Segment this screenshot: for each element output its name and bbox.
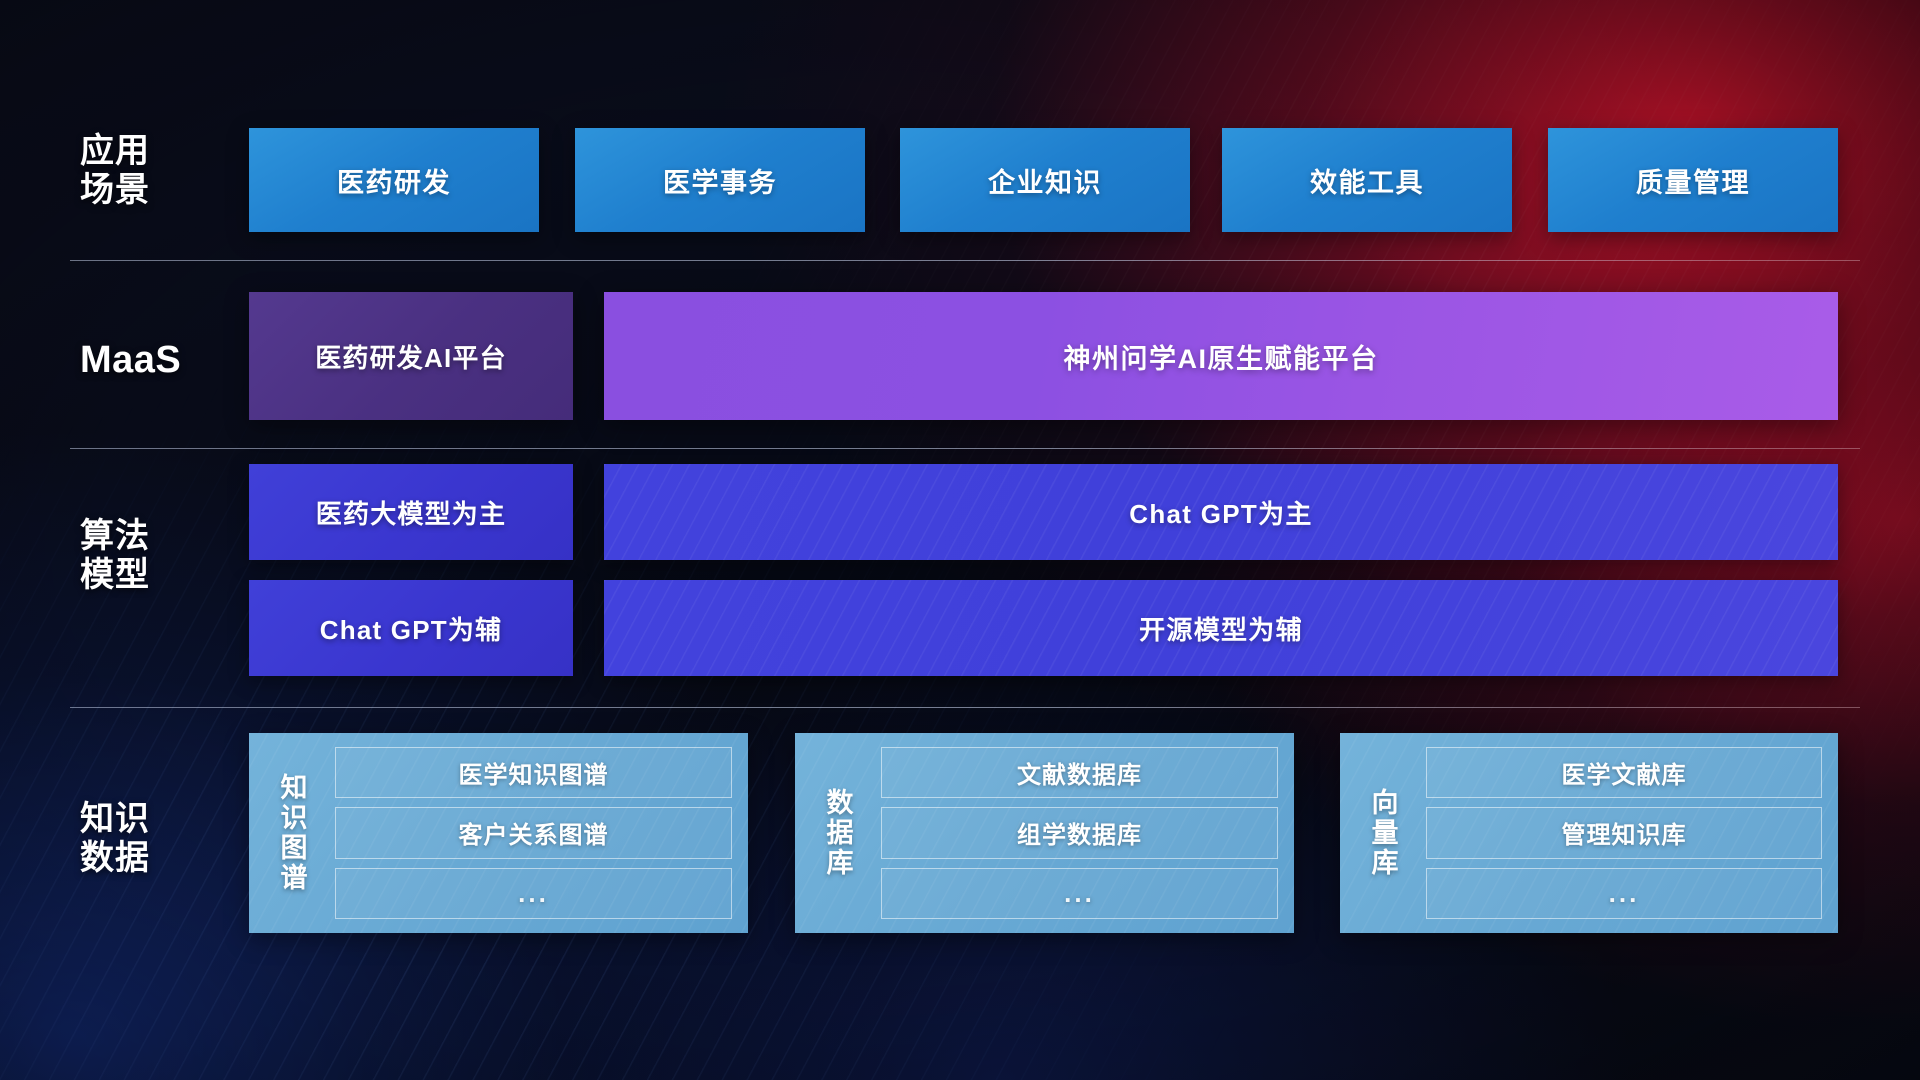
knowledge-group-items: 文献数据库 组学数据库 ... — [871, 747, 1278, 919]
label-char: 库 — [1372, 848, 1399, 878]
knowledge-item-medical-literature-library[interactable]: 医学文献库 — [1426, 747, 1822, 798]
maas-platform-label: 医药研发AI平台 — [315, 338, 507, 375]
knowledge-group-label-database: 数 据 库 — [809, 747, 871, 919]
label-char: 识 — [281, 803, 308, 833]
maas-platform-label: 神州问学AI原生赋能平台 — [1064, 337, 1379, 376]
divider-3 — [70, 707, 1860, 708]
knowledge-item-label: ... — [1609, 878, 1640, 909]
knowledge-item-medical-knowledge-graph[interactable]: 医学知识图谱 — [335, 747, 732, 798]
knowledge-item-label: 管理知识库 — [1562, 815, 1687, 850]
app-box-medical-affairs[interactable]: 医学事务 — [575, 128, 865, 232]
divider-1 — [70, 260, 1860, 261]
knowledge-group-label-knowledge-graph: 知 识 图 谱 — [263, 747, 325, 919]
algorithm-box-label: Chat GPT为辅 — [320, 610, 502, 647]
label-char: 图 — [281, 833, 308, 863]
knowledge-item-omics-database[interactable]: 组学数据库 — [881, 807, 1278, 858]
app-box-label: 医学事务 — [663, 161, 777, 200]
app-box-enterprise-knowledge[interactable]: 企业知识 — [900, 128, 1190, 232]
application-scenarios-row: 医药研发 医学事务 企业知识 效能工具 质量管理 — [0, 128, 1920, 232]
knowledge-group-database[interactable]: 数 据 库 文献数据库 组学数据库 ... — [795, 733, 1294, 933]
knowledge-item-literature-database[interactable]: 文献数据库 — [881, 747, 1278, 798]
maas-platform-shenzhou[interactable]: 神州问学AI原生赋能平台 — [604, 292, 1838, 420]
knowledge-group-vector-database[interactable]: 向 量 库 医学文献库 管理知识库 ... — [1340, 733, 1838, 933]
divider-2 — [70, 448, 1860, 449]
algorithm-row-primary: 医药大模型为主 Chat GPT为主 — [0, 464, 1920, 560]
knowledge-group-label-vector-database: 向 量 库 — [1354, 747, 1416, 919]
app-box-drug-rd[interactable]: 医药研发 — [249, 128, 539, 232]
knowledge-item-management-knowledge-library[interactable]: 管理知识库 — [1426, 807, 1822, 858]
app-box-label: 医药研发 — [337, 161, 451, 200]
knowledge-item-label: 客户关系图谱 — [459, 815, 609, 850]
label-char: 据 — [827, 818, 854, 848]
architecture-diagram: 应用 场景 医药研发 医学事务 企业知识 效能工具 质量管理 MaaS 医药研发… — [0, 0, 1920, 1080]
knowledge-item-label: 医学文献库 — [1562, 755, 1687, 790]
knowledge-group-items: 医学知识图谱 客户关系图谱 ... — [325, 747, 732, 919]
knowledge-data-row: 知 识 图 谱 医学知识图谱 客户关系图谱 ... 数 据 库 文献数据库 组学… — [0, 733, 1920, 933]
app-box-label: 企业知识 — [988, 161, 1102, 200]
maas-row: 医药研发AI平台 神州问学AI原生赋能平台 — [0, 292, 1920, 420]
knowledge-item-more[interactable]: ... — [335, 868, 732, 919]
knowledge-item-label: 医学知识图谱 — [459, 755, 609, 790]
algorithm-box-label: Chat GPT为主 — [1129, 494, 1312, 531]
label-char: 向 — [1372, 788, 1399, 818]
app-box-efficiency-tools[interactable]: 效能工具 — [1222, 128, 1512, 232]
algorithm-box-label: 开源模型为辅 — [1139, 610, 1303, 647]
algorithm-box-opensource-secondary[interactable]: 开源模型为辅 — [604, 580, 1838, 676]
maas-platform-drug-rd[interactable]: 医药研发AI平台 — [249, 292, 573, 420]
app-box-quality-management[interactable]: 质量管理 — [1548, 128, 1838, 232]
knowledge-item-customer-relation-graph[interactable]: 客户关系图谱 — [335, 807, 732, 858]
algorithm-row-secondary: Chat GPT为辅 开源模型为辅 — [0, 580, 1920, 676]
knowledge-group-knowledge-graph[interactable]: 知 识 图 谱 医学知识图谱 客户关系图谱 ... — [249, 733, 748, 933]
algorithm-box-chatgpt-secondary[interactable]: Chat GPT为辅 — [249, 580, 573, 676]
knowledge-item-more[interactable]: ... — [881, 868, 1278, 919]
app-box-label: 质量管理 — [1636, 161, 1750, 200]
label-char: 量 — [1372, 818, 1399, 848]
knowledge-item-label: ... — [518, 878, 549, 909]
algorithm-box-drug-llm-primary[interactable]: 医药大模型为主 — [249, 464, 573, 560]
label-char: 谱 — [281, 863, 308, 893]
app-box-label: 效能工具 — [1310, 161, 1424, 200]
knowledge-item-more[interactable]: ... — [1426, 868, 1822, 919]
label-char: 知 — [281, 773, 308, 803]
knowledge-item-label: 组学数据库 — [1017, 815, 1142, 850]
knowledge-item-label: ... — [1064, 878, 1095, 909]
algorithm-box-chatgpt-primary[interactable]: Chat GPT为主 — [604, 464, 1838, 560]
algorithm-box-label: 医药大模型为主 — [316, 494, 506, 531]
label-char: 数 — [827, 788, 854, 818]
knowledge-item-label: 文献数据库 — [1017, 755, 1142, 790]
knowledge-group-items: 医学文献库 管理知识库 ... — [1416, 747, 1822, 919]
label-char: 库 — [827, 848, 854, 878]
